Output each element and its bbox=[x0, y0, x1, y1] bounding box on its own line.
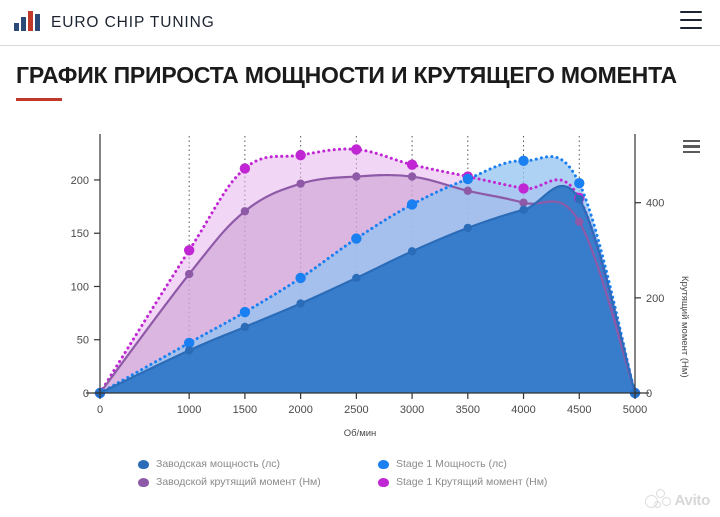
svg-text:4000: 4000 bbox=[511, 404, 535, 416]
legend-label: Заводская мощность (лс) bbox=[156, 458, 280, 470]
svg-text:0: 0 bbox=[646, 388, 652, 400]
page-title: ГРАФИК ПРИРОСТА МОЩНОСТИ И КРУТЯЩЕГО МОМ… bbox=[16, 62, 720, 89]
svg-text:5000: 5000 bbox=[623, 404, 647, 416]
legend-column-right: Stage 1 Мощность (лс) Stage 1 Крутящий м… bbox=[360, 458, 660, 488]
svg-text:50: 50 bbox=[77, 335, 89, 347]
top-bar: EURO CHIP TUNING bbox=[0, 0, 720, 46]
legend-item[interactable]: Заводской крутящий момент (Нм) bbox=[138, 476, 360, 488]
svg-text:0: 0 bbox=[83, 388, 89, 400]
legend-swatch-icon bbox=[378, 478, 389, 487]
title-underline bbox=[16, 98, 62, 101]
legend-item[interactable]: Заводская мощность (лс) bbox=[138, 458, 360, 470]
svg-text:2000: 2000 bbox=[288, 404, 312, 416]
svg-text:150: 150 bbox=[71, 228, 89, 240]
legend-swatch-icon bbox=[138, 478, 149, 487]
svg-text:2500: 2500 bbox=[344, 404, 368, 416]
avito-logo-icon bbox=[645, 489, 671, 511]
svg-text:4500: 4500 bbox=[567, 404, 591, 416]
power-torque-chart: 0501001502000200400010001500200025003000… bbox=[0, 118, 720, 418]
chart-container: 0501001502000200400010001500200025003000… bbox=[0, 118, 720, 517]
avito-watermark-text: Avito bbox=[675, 492, 710, 509]
bar-chart-logo-icon bbox=[14, 9, 42, 36]
svg-text:100: 100 bbox=[71, 281, 89, 293]
x-axis-title: Об/мин bbox=[0, 428, 720, 439]
svg-text:1000: 1000 bbox=[177, 404, 201, 416]
legend-swatch-icon bbox=[378, 460, 389, 469]
hamburger-menu-icon[interactable] bbox=[680, 11, 702, 29]
title-block: ГРАФИК ПРИРОСТА МОЩНОСТИ И КРУТЯЩЕГО МОМ… bbox=[0, 46, 720, 101]
svg-text:1500: 1500 bbox=[233, 404, 257, 416]
legend-swatch-icon bbox=[138, 460, 149, 469]
avito-watermark: Avito bbox=[645, 489, 710, 511]
svg-text:400: 400 bbox=[646, 198, 664, 210]
page-root: EURO CHIP TUNING ГРАФИК ПРИРОСТА МОЩНОСТ… bbox=[0, 0, 720, 517]
legend-item[interactable]: Stage 1 Крутящий момент (Нм) bbox=[378, 476, 660, 488]
chart-legend: Заводская мощность (лс) Заводской крутящ… bbox=[0, 458, 720, 488]
legend-label: Stage 1 Мощность (лс) bbox=[396, 458, 507, 470]
legend-item[interactable]: Stage 1 Мощность (лс) bbox=[378, 458, 660, 470]
svg-text:3500: 3500 bbox=[456, 404, 480, 416]
brand[interactable]: EURO CHIP TUNING bbox=[14, 9, 215, 36]
svg-text:3000: 3000 bbox=[400, 404, 424, 416]
legend-column-left: Заводская мощность (лс) Заводской крутящ… bbox=[60, 458, 360, 488]
y-axis-right-title: Крутящий момент (Нм) bbox=[679, 276, 690, 378]
legend-label: Stage 1 Крутящий момент (Нм) bbox=[396, 476, 547, 488]
brand-name: EURO CHIP TUNING bbox=[51, 14, 215, 32]
svg-text:200: 200 bbox=[646, 293, 664, 305]
legend-label: Заводской крутящий момент (Нм) bbox=[156, 476, 321, 488]
svg-text:200: 200 bbox=[71, 175, 89, 187]
svg-text:0: 0 bbox=[97, 404, 103, 416]
